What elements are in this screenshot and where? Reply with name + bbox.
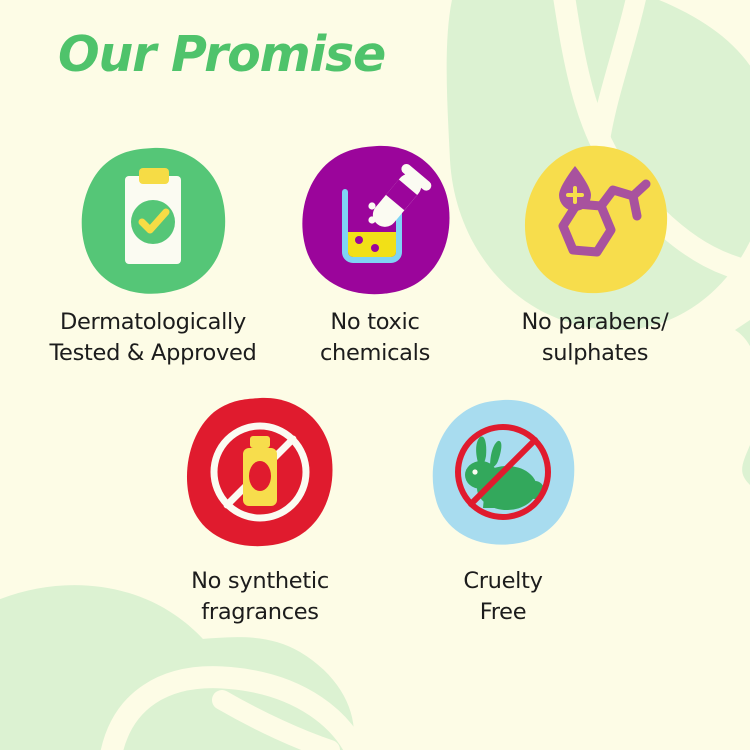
our-promise-poster: Our Promise Dermatologically Tested & Ap…: [0, 0, 750, 750]
no-rabbit-icon: [423, 392, 583, 552]
clipboard-clip: [139, 168, 169, 184]
liquid-bubble-1: [355, 236, 363, 244]
promise-label: No parabens/ sulphates: [522, 307, 669, 368]
molecule-branch: [633, 196, 637, 216]
promise-item-no-toxic-chemicals: No toxic chemicals: [250, 140, 500, 368]
liquid-bubble-2: [371, 244, 379, 252]
promise-item-cruelty-free: Cruelty Free: [378, 392, 628, 627]
clipboard-check-icon: [73, 140, 233, 300]
molecule-drop-icon: [515, 140, 675, 300]
promise-item-dermatologically-tested: Dermatologically Tested & Approved: [28, 140, 278, 368]
no-perfume-bottle-icon: [180, 392, 340, 552]
rabbit-eye: [472, 469, 477, 474]
beaker-test-tube-icon: [295, 140, 455, 300]
beaker-liquid: [348, 232, 396, 257]
promise-item-no-synthetic-fragrances: No synthetic fragrances: [135, 392, 385, 627]
rising-bubble-1: [368, 202, 375, 209]
bottle-label: [249, 461, 271, 491]
promise-label: No synthetic fragrances: [191, 566, 329, 627]
promise-label: Dermatologically Tested & Approved: [49, 307, 256, 368]
icon-blob: [525, 146, 667, 293]
promise-item-no-parabens-sulphates: No parabens/ sulphates: [470, 140, 720, 368]
promise-grid: Dermatologically Tested & Approved: [0, 0, 750, 750]
promise-label: No toxic chemicals: [320, 307, 430, 368]
promise-label: Cruelty Free: [463, 566, 542, 627]
